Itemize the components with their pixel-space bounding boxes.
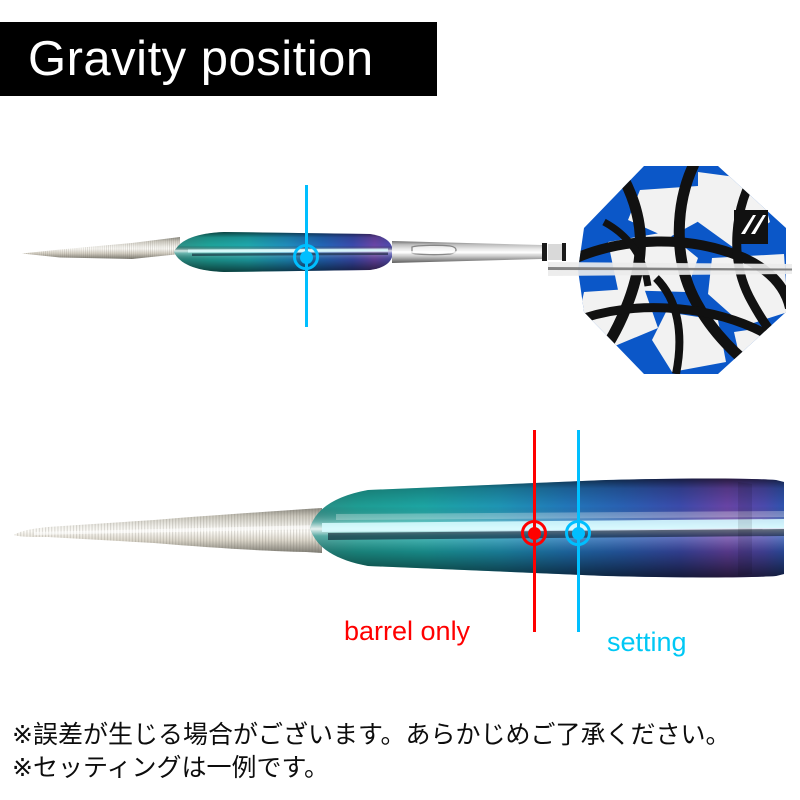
gravity-marker-setting-bottom <box>565 520 591 546</box>
label-barrel-only: barrel only <box>344 618 470 645</box>
page-title: Gravity position <box>28 23 374 95</box>
dart-flight-top <box>548 162 792 378</box>
gravity-marker-core <box>528 527 541 540</box>
gravity-marker-barrel-only <box>521 520 547 546</box>
dart-shaft-top <box>392 234 572 270</box>
dart-point-top <box>22 228 182 276</box>
dart-point-bottom <box>14 505 324 571</box>
dart-barrel-bottom <box>306 470 790 586</box>
footnote-2: ※セッティングは一例です。 <box>12 751 792 784</box>
label-setting: setting <box>607 629 687 656</box>
gravity-marker-core <box>300 251 313 264</box>
gravity-marker-setting-top <box>293 244 319 270</box>
dart-barrel-top <box>172 227 394 277</box>
gravity-marker-core <box>572 527 585 540</box>
footnote-1: ※誤差が生じる場合がございます。あらかじめご了承ください。 <box>12 718 792 751</box>
footnotes: ※誤差が生じる場合がございます。あらかじめご了承ください。 ※セッティングは一例… <box>12 718 792 784</box>
flight-logo-icon <box>734 210 768 244</box>
gravity-position-infographic: Gravity position <box>0 0 800 800</box>
